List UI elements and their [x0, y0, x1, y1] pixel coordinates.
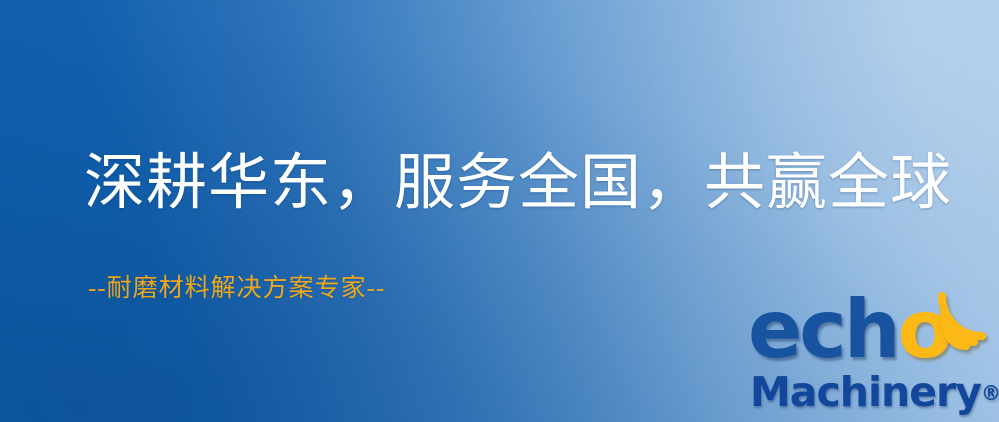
logo-echo-text: echo [748, 290, 950, 370]
logo-letter-h: h [844, 283, 898, 376]
logo-letter-e: e [748, 283, 799, 376]
logo-letter-c: c [799, 283, 843, 376]
banner-subtitle: --耐磨材料解决方案专家-- [88, 268, 385, 304]
logo-company-name: Machinery® [750, 372, 999, 413]
brand-logo: echo Machinery® [748, 296, 996, 420]
logo-wordmark: echo [748, 296, 996, 376]
registered-trademark-icon: ® [981, 381, 999, 405]
promotional-banner: 深耕华东，服务全国，共赢全球 --耐磨材料解决方案专家-- echo Machi… [0, 0, 999, 422]
logo-machinery-text: Machinery [750, 368, 981, 416]
signal-waves-icon [936, 290, 999, 352]
banner-headline: 深耕华东，服务全国，共赢全球 [84, 152, 952, 215]
